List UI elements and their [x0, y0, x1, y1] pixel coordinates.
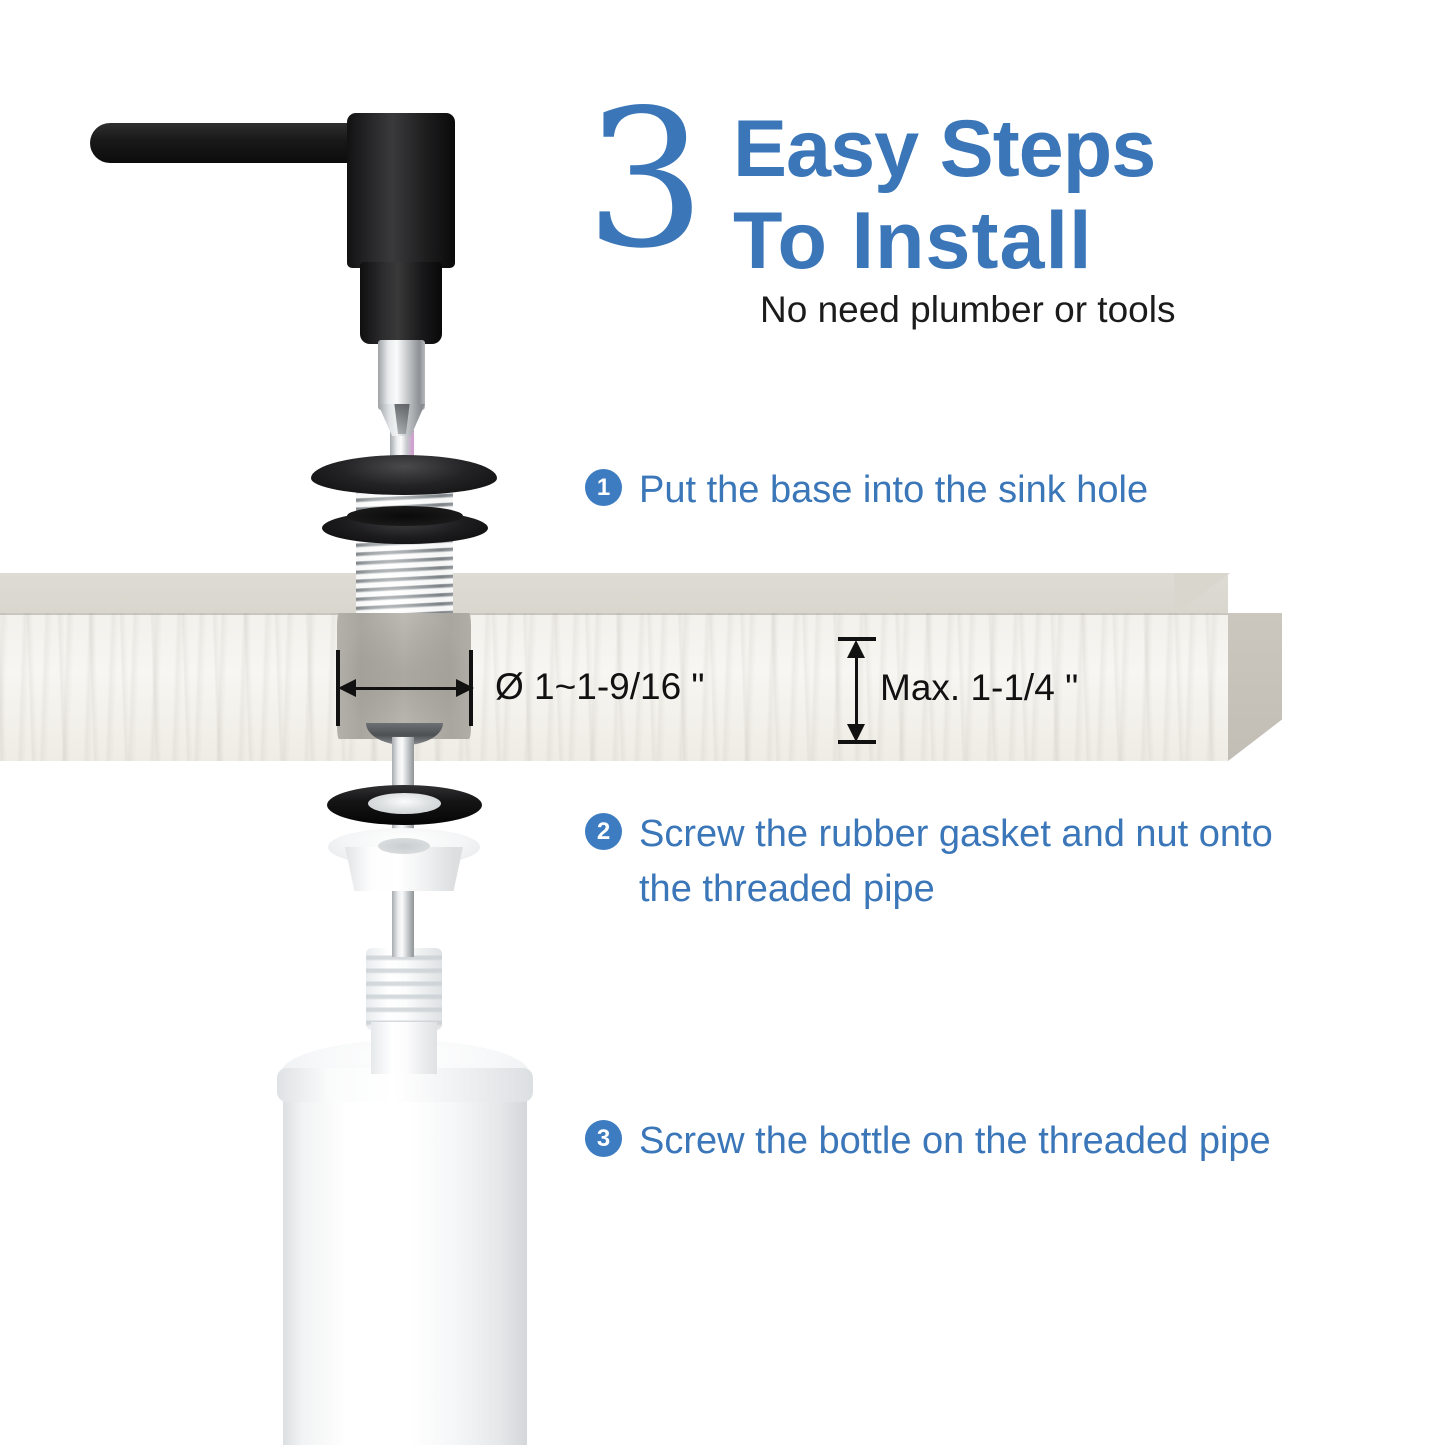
countertop-top-corner [1174, 573, 1230, 615]
pump-head [347, 113, 455, 268]
headline-line-2: To Install [733, 195, 1223, 287]
step-text-2-line-1: Screw the rubber gasket and nut onto [639, 813, 1273, 855]
thickness-dimension-line [855, 646, 858, 736]
step-item-1: 1 Put the base into the sink hole [585, 463, 1148, 518]
install-infographic: 3 Easy Steps To Install No need plumber … [0, 0, 1445, 1445]
plastic-nut-bore [378, 838, 430, 854]
step-text-3: Screw the bottle on the threaded pipe [639, 1114, 1271, 1169]
countertop-end-cap [1228, 613, 1282, 761]
flange-washer-lower-top [347, 506, 463, 526]
hole-dimension-arrow-left [338, 679, 356, 697]
step-text-1-line-1: Put the base into the sink hole [639, 469, 1148, 511]
countertop-top-surface [0, 573, 1228, 615]
bottle-neck [371, 1022, 437, 1074]
headline-lines: Easy Steps To Install [733, 103, 1223, 287]
step-text-2-line-2: the threaded pipe [639, 862, 1273, 917]
step-badge-3: 3 [585, 1120, 622, 1157]
step-text-3-line-1: Screw the bottle on the threaded pipe [639, 1120, 1271, 1162]
step-text-2: Screw the rubber gasket and nut onto the… [639, 807, 1273, 917]
thickness-dimension-arrow-bottom [847, 724, 865, 742]
bottle-thread [366, 948, 442, 1030]
spout-arm [90, 123, 370, 163]
step-badge-2: 2 [585, 813, 622, 850]
step-item-2: 2 Screw the rubber gasket and nut onto t… [585, 807, 1315, 917]
headline-line-1: Easy Steps [733, 103, 1223, 195]
hole-diameter-label: Ø 1~1-9/16 " [495, 664, 705, 710]
bottle-body [283, 1090, 527, 1445]
countertop-edge-line [0, 613, 1228, 615]
step-text-1: Put the base into the sink hole [639, 463, 1148, 518]
chrome-collar [378, 340, 425, 410]
flange-washer-upper [311, 455, 497, 495]
countertop-hole-shadow [337, 613, 471, 739]
thickness-dimension-arrow-top [847, 640, 865, 658]
headline-number: 3 [585, 85, 702, 275]
rubber-gasket-hole [368, 793, 441, 814]
hole-dimension-line [345, 687, 467, 690]
counter-thickness-label: Max. 1-1/4 " [880, 665, 1078, 711]
step-badge-1: 1 [585, 469, 622, 506]
step-item-3: 3 Screw the bottle on the threaded pipe [585, 1114, 1271, 1169]
pump-collar [360, 262, 442, 344]
headline-subtitle: No need plumber or tools [760, 288, 1175, 332]
hole-dimension-arrow-right [456, 679, 474, 697]
